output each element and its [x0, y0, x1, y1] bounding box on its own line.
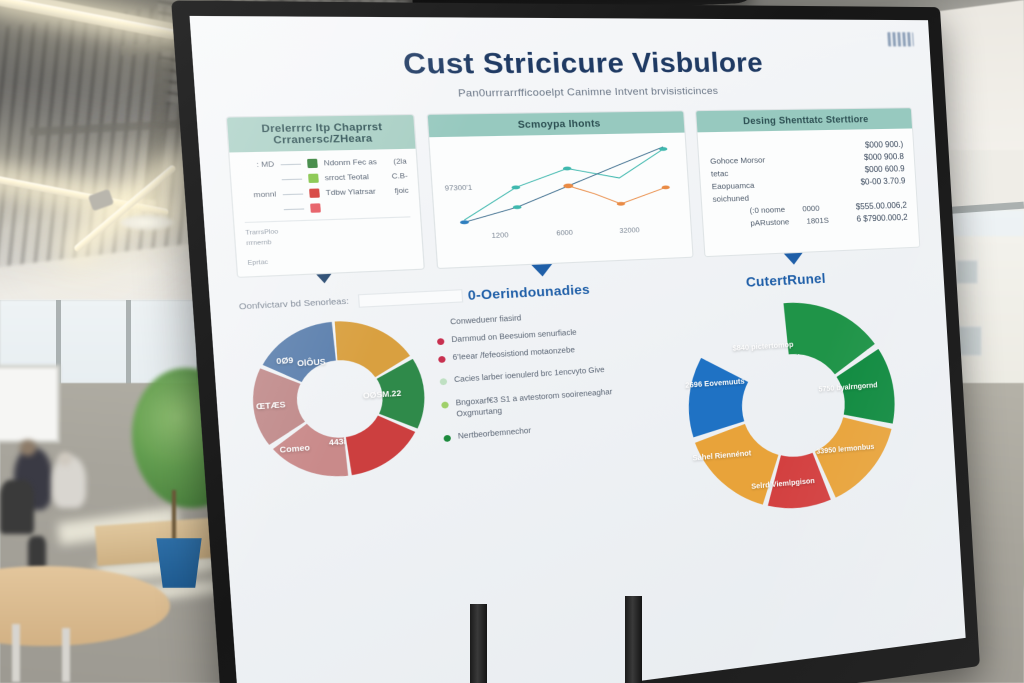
x-tick: 32000	[619, 227, 640, 235]
table-key: Gohoce Morsor	[710, 155, 765, 166]
bullet-text: Darnmud on Beesuiom senurfiacle	[451, 328, 577, 347]
list-item: Bngoxarf€3 S1 a avtestorom sooireneaghar…	[441, 385, 643, 422]
line-chart-card[interactable]: Scmoypa lhonts 97300'1	[426, 110, 693, 269]
exterior-window	[956, 260, 978, 284]
arrow-down-icon	[316, 274, 332, 284]
page-title: Cust Stricicure Visbulore	[221, 46, 910, 82]
table-value: $555.00.006,2	[856, 201, 908, 212]
x-tick: 6000	[556, 229, 573, 237]
table-value: $000 900.)	[865, 140, 904, 150]
donut-right-svg	[672, 288, 909, 528]
legend-label: Ndonrn Fec as	[323, 158, 387, 167]
legend-label	[327, 205, 404, 207]
whiteboard	[0, 365, 60, 443]
legend-swatch	[307, 159, 318, 168]
line-chart-plot: 97300'1	[439, 140, 681, 232]
right-donut-section: CutertRunel	[641, 266, 936, 531]
left-donut-and-bullets: OlÔUS OØSM.22 443i Comeo ŒTÆS 0Ø9 C	[240, 299, 646, 491]
person-head	[20, 440, 36, 456]
legend-card[interactable]: Drelerrrc Itp Chaprrst Crranersc/ZHeara …	[226, 114, 425, 278]
donut-segment-label: 443i	[329, 438, 347, 449]
arrow-down-icon	[531, 264, 553, 277]
legend-prefix	[242, 179, 276, 180]
table-key: Eaopuamca	[711, 181, 754, 192]
metrics-table-card[interactable]: Desing Shenttatc Sterttiore $000 900.) G…	[695, 107, 920, 257]
legend-connector	[283, 193, 303, 195]
legend-value: C.B-	[391, 172, 407, 180]
display-stand-pole	[470, 604, 487, 683]
bullet-text: Bngoxarf€3 S1 a avtestorom sooireneaghar…	[455, 385, 643, 421]
bullets-title: 0-Oerindounadies	[467, 282, 590, 303]
table-row: $000 900.)	[709, 140, 903, 154]
legend-swatch	[310, 203, 321, 212]
arrow-down-icon	[784, 253, 803, 265]
y-axis-label: 97300'1	[445, 184, 473, 193]
bottom-section: Oonfvictarv bd Senorleas: 0-Oerindounadi…	[238, 266, 936, 572]
person-head	[58, 452, 72, 466]
table-value: $000 600.9	[864, 164, 904, 174]
wall-mounted-display: meet Cust Stricicure Visbulore Pan0urrra…	[171, 0, 980, 683]
table-key: tetac	[711, 169, 729, 179]
divider	[245, 216, 411, 223]
legend-footer-note: TrarrsPloo rrrnernb Eprtac	[245, 223, 413, 268]
legend-prefix: : MD	[240, 160, 274, 169]
display-stand-pole	[625, 596, 642, 683]
exterior-window	[958, 326, 982, 356]
corner-logo-icon	[887, 32, 914, 46]
donut-chart-right[interactable]: $840 pictertomop 5750 byalrngornd 33950 …	[672, 288, 909, 528]
table-value: $000 900.8	[864, 152, 904, 162]
table-key	[709, 144, 710, 154]
recessed-downlight	[120, 215, 174, 230]
legend-connector	[281, 163, 301, 165]
bullet-dot-icon	[440, 379, 448, 386]
metrics-table-body: $000 900.) Gohoce Morsor $000 900.8 teta…	[698, 128, 919, 241]
x-tick: 1200	[491, 232, 508, 240]
legend-swatch	[309, 188, 320, 197]
legend-connector	[282, 178, 302, 180]
donut-left-svg	[240, 310, 437, 491]
bullet-text: Conweduenr fiasird	[450, 314, 522, 329]
legend-label: Tdbw Ylatrsar	[326, 187, 389, 197]
caption-placeholder-bar	[358, 289, 463, 308]
display-screen: Cust Stricicure Visbulore Pan0urrrarrffi…	[189, 16, 965, 683]
bullet-dot-icon	[438, 356, 446, 363]
legend-prefix: monnl	[243, 190, 277, 199]
legend-prefix	[244, 209, 278, 210]
left-donut-section: Oonfvictarv bd Senorleas: 0-Oerindounadi…	[238, 280, 651, 572]
legend-row: srroct Teotal C.B-	[241, 171, 408, 184]
page-subtitle: Pan0urrrarrfficooelpt Canimne Intvent br…	[224, 84, 911, 103]
legend-row: : MD Ndonrn Fec as (2la	[240, 157, 407, 170]
table-value	[906, 188, 907, 197]
legend-value: fjoic	[394, 187, 409, 195]
bullet-dot-icon	[443, 435, 451, 442]
legend-label: srroct Teotal	[325, 172, 386, 182]
presentation-slide: Cust Stricicure Visbulore Pan0urrrarrffi…	[189, 16, 965, 683]
line-chart-svg	[439, 140, 681, 232]
donut-chart-left[interactable]: OlÔUS OØSM.22 443i Comeo ŒTÆS 0Ø9	[240, 310, 437, 491]
table-key: soichuned	[712, 193, 749, 204]
legend-card-header: Drelerrrc Itp Chaprrst Crranersc/ZHeara	[227, 115, 416, 152]
bullet-dot-icon	[437, 338, 445, 345]
bullet-text: 6'Ieear /fefeosistiond motaonzebe	[452, 346, 575, 365]
legend-connector	[284, 208, 304, 210]
table-value: $0-00 3.70.9	[860, 176, 905, 186]
legend-row	[244, 201, 410, 215]
legend-swatch	[308, 174, 319, 183]
donut-segment-label: OlÔUS	[297, 358, 326, 369]
potted-plant-stem	[172, 490, 176, 540]
list-item: Cacies larber ioenulerd brc 1encvyto Giv…	[439, 364, 640, 389]
donut-segment-label: ŒTÆS	[256, 401, 286, 413]
table-leg	[12, 624, 20, 682]
legend-value: (2la	[393, 157, 407, 165]
legend-row: monnl Tdbw Ylatrsar fjoic	[242, 186, 408, 200]
chair	[0, 480, 34, 534]
bullet-text: Nertbeorbemnechor	[458, 426, 532, 443]
chair	[28, 536, 46, 568]
donut-segment-label: 0Ø9	[276, 357, 294, 368]
legend-card-body: : MD Ndonrn Fec as (2la srroct Teota	[229, 149, 423, 277]
bullet-dot-icon	[441, 401, 449, 408]
table-value: 6 $7900.000,2	[856, 213, 908, 224]
display-bezel: Cust Stricicure Visbulore Pan0urrrarrffi…	[171, 0, 980, 683]
bullet-text: Cacies larber ioenulerd brc 1encvyto Giv…	[454, 366, 605, 387]
left-donut-caption: Oonfvictarv bd Senorleas:	[239, 295, 349, 311]
metrics-table: $000 900.) Gohoce Morsor $000 900.8 teta…	[707, 136, 911, 234]
table-leg	[62, 628, 70, 682]
list-item: Nertbeorbemnechor	[443, 418, 644, 445]
table-key: pARustone 1801S	[714, 216, 829, 230]
table-key: (:0 noome 0000	[713, 204, 820, 217]
line-chart-body: 97300'1	[429, 133, 691, 251]
bullet-list: Conweduenr fiasird Darnmud on Beesuiom s…	[435, 299, 645, 451]
